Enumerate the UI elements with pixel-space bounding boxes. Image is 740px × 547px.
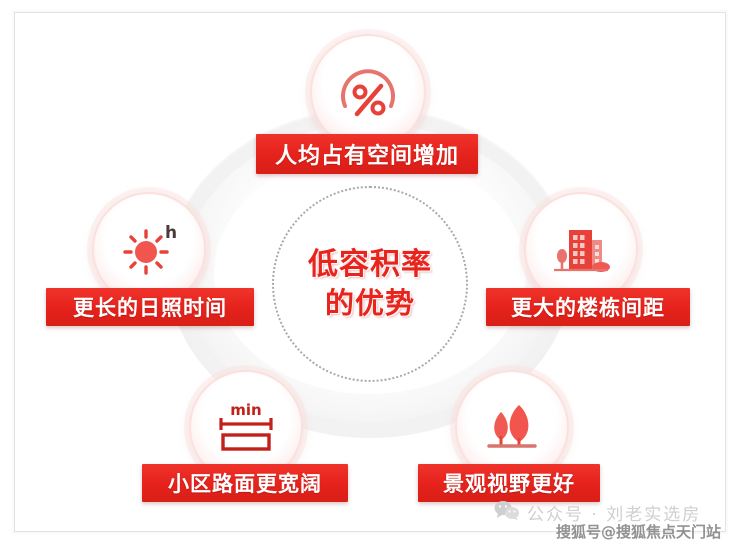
min-width-road-icon: min xyxy=(211,392,281,462)
trees-icon xyxy=(477,392,547,462)
node-bubble[interactable] xyxy=(310,34,426,150)
center-title-line1: 低容积率 xyxy=(308,246,432,284)
node-label-text: 更长的日照时间 xyxy=(73,292,227,322)
node-label-banner[interactable]: 更长的日照时间 xyxy=(46,288,254,326)
min-width-road-icon-label: min xyxy=(230,401,261,419)
infographic-canvas: 低容积率 的优势 人均占有空间增加 xyxy=(0,0,740,547)
sun-hours-icon-label: h xyxy=(165,223,177,243)
center-title: 低容积率 的优势 xyxy=(272,186,468,382)
center-title-line2: 的优势 xyxy=(325,285,415,322)
node-label-banner[interactable]: 景观视野更好 xyxy=(418,464,600,502)
sun-hours-icon: h xyxy=(114,214,184,284)
node-label-text: 景观视野更好 xyxy=(443,468,575,498)
node-label-banner[interactable]: 人均占有空间增加 xyxy=(256,134,478,174)
percent-gauge-icon xyxy=(333,57,403,127)
node-label-banner[interactable]: 小区路面更宽阔 xyxy=(142,464,348,502)
node-label-text: 小区路面更宽阔 xyxy=(168,468,322,498)
buildings-icon xyxy=(546,214,616,284)
sohu-watermark: 搜狐号@搜狐焦点天门站 xyxy=(556,521,721,542)
wechat-icon xyxy=(494,500,520,525)
node-label-text: 人均占有空间增加 xyxy=(275,138,459,170)
node-label-text: 更大的楼栋间距 xyxy=(511,292,665,322)
node-label-banner[interactable]: 更大的楼栋间距 xyxy=(486,288,690,326)
